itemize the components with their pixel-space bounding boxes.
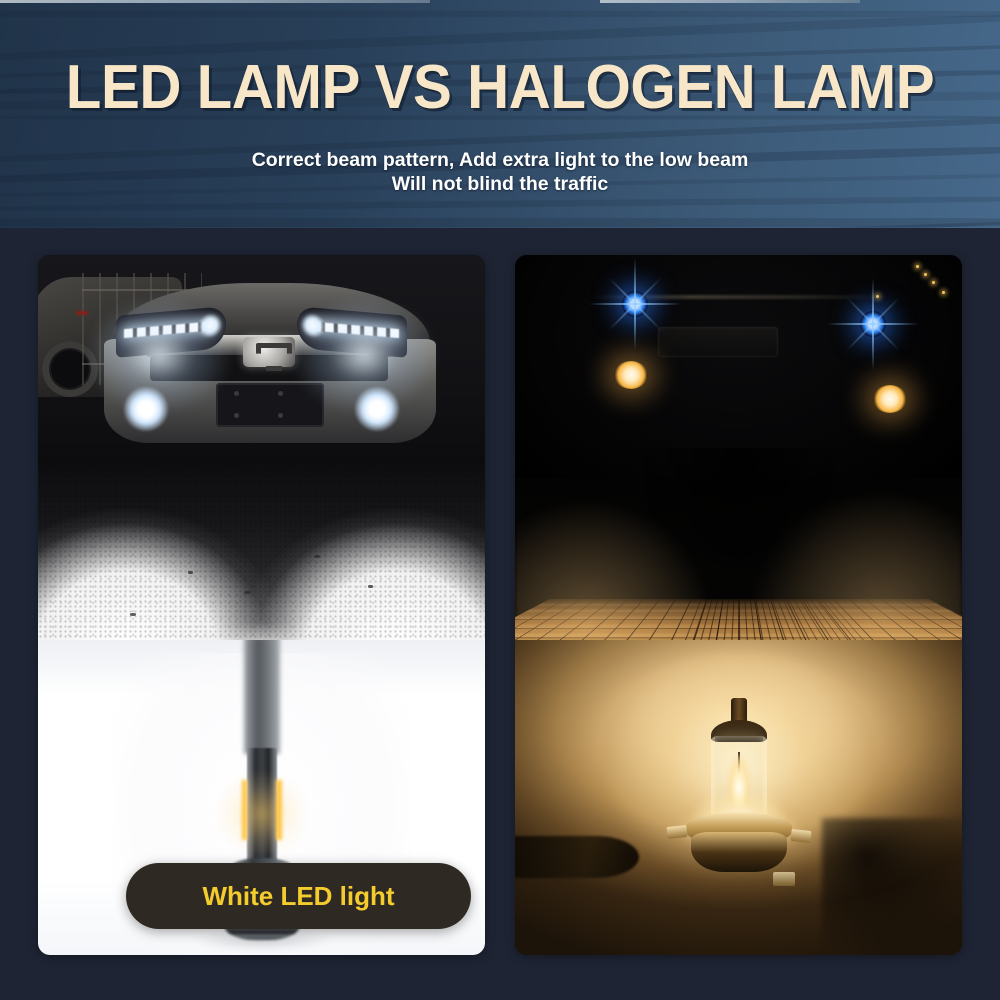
right-projector-lens [301,313,325,339]
led-bulb-shadow [192,929,332,951]
left-projector-lens [198,313,222,339]
comparison-grid: White LED light [0,0,1000,1000]
led-label-pill: White LED light [126,863,471,929]
car-shadow-on-paving [515,448,962,641]
led-headlight-night-photo [38,255,485,640]
halogen-comparison-card: yellow halogen lamp [515,255,962,955]
left-blue-led-accent [622,291,648,317]
halogen-headlight-night-photo [515,255,962,640]
led-night-scene [38,255,485,640]
led-chip [242,780,282,840]
left-fog-light [124,387,168,431]
asphalt-texture [38,459,485,640]
distant-city-lights [846,261,956,309]
led-label-text: White LED light [202,881,394,912]
license-plate-dim [658,327,778,357]
right-fog-light [355,387,399,431]
halogen-bulb-scene [515,640,962,955]
poster-root: LED LAMP VS HALOGEN LAMP Correct beam pa… [0,0,1000,1000]
led-bulb-heatsink-stem [244,640,280,754]
honda-badge-icon [243,337,295,367]
halogen-bulb-photo [515,640,962,955]
license-plate-recess [216,383,324,427]
halogen-night-scene [515,255,962,640]
right-blue-led-accent [860,311,886,337]
led-comparison-card: White LED light [38,255,485,955]
right-halogen-light [873,385,907,413]
left-halogen-light [614,361,648,389]
background-taillight [76,311,88,315]
photo-vignette [515,640,962,955]
